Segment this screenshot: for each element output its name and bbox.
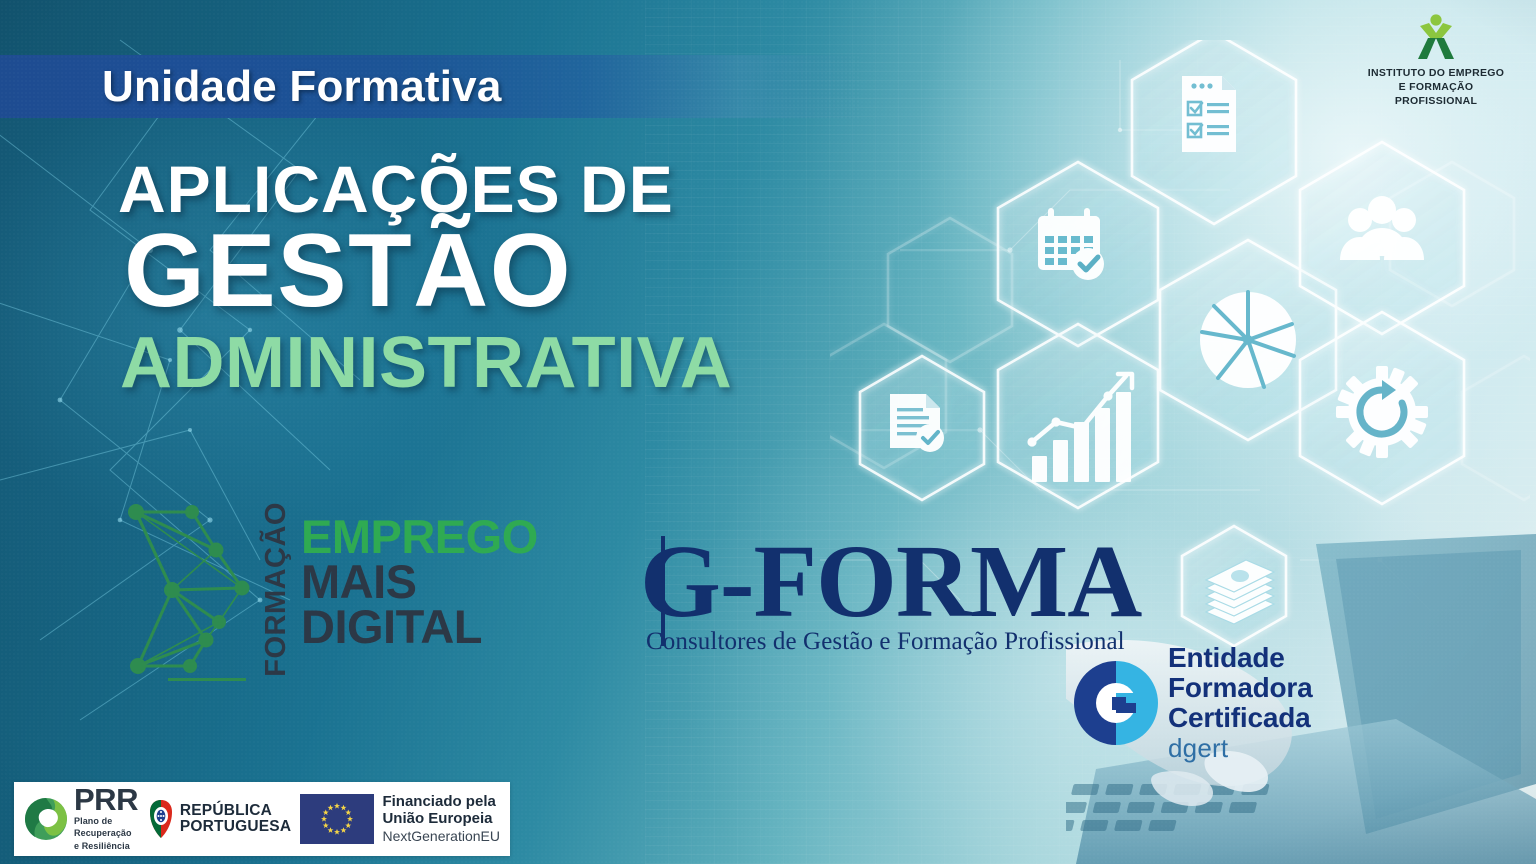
dgert-certification-badge: Entidade Formadora Certificada dgert — [1072, 643, 1312, 762]
dgert-line-1: Entidade — [1168, 643, 1312, 673]
emd-vertical-word: FORMAÇÃO — [262, 502, 291, 677]
gforma-accent-bar — [661, 536, 665, 646]
page-title: APLICAÇÕES DE GESTÃO ADMINISTRATIVA — [118, 156, 732, 399]
republica-portuguesa-logo: REPÚBLICA PORTUGUESA — [148, 799, 291, 839]
prr-sub-1: Plano de Recuperação — [74, 816, 139, 839]
dgert-d-mark-icon — [1072, 657, 1158, 749]
dgert-line-2: Formadora — [1168, 673, 1312, 703]
emprego-mais-digital-logo: FORMAÇÃO EMPREGO MAIS DIGITAL — [124, 500, 538, 686]
republica-text: REPÚBLICA PORTUGUESA — [180, 803, 291, 836]
network-nodes-icon — [124, 500, 256, 686]
republica-line-2: PORTUGUESA — [180, 819, 291, 835]
eu-flag-icon — [300, 794, 374, 844]
eu-funding-logo: Financiado pela União Europeia NextGener… — [300, 793, 500, 845]
eu-text: Financiado pela União Europeia NextGener… — [382, 793, 500, 845]
ribbon-label: Unidade Formativa — [102, 62, 502, 112]
portugal-shield-icon — [148, 799, 174, 839]
eu-line-2: União Europeia — [382, 810, 500, 827]
eu-line-3: NextGenerationEU — [382, 828, 500, 845]
iefp-logo: INSTITUTO DO EMPREGO E FORMAÇÃO PROFISSI… — [1358, 14, 1514, 109]
prr-globe-icon — [24, 797, 68, 841]
prr-text: PRR Plano de Recuperação e Resiliência — [74, 786, 139, 852]
eu-line-1: Financiado pela — [382, 793, 500, 810]
dgert-label: Entidade Formadora Certificada dgert — [1168, 643, 1312, 762]
gforma-wordmark: G-FORMA — [640, 530, 1141, 634]
dgert-line-4: dgert — [1168, 734, 1312, 763]
funding-logos-bar: PRR Plano de Recuperação e Resiliência R… — [14, 782, 510, 856]
prr-acronym: PRR — [74, 786, 139, 815]
dgert-line-3: Certificada — [1168, 703, 1312, 733]
prr-sub-2: e Resiliência — [74, 841, 139, 852]
iefp-label-line-2: E FORMAÇÃO PROFISSIONAL — [1358, 80, 1514, 108]
promotional-banner: Unidade Formativa APLICAÇÕES DE GESTÃO A… — [0, 0, 1536, 864]
iefp-figure-icon — [1410, 14, 1462, 60]
headline-line-2: GESTÃO — [124, 219, 732, 323]
emd-wordmark: EMPREGO MAIS DIGITAL — [301, 514, 538, 649]
iefp-label-line-1: INSTITUTO DO EMPREGO — [1358, 66, 1514, 80]
gforma-wordmark-text: G-FORMA — [640, 524, 1141, 639]
emd-word-mais: MAIS — [301, 559, 538, 604]
emd-word-emprego: EMPREGO — [301, 514, 538, 559]
unidade-formativa-ribbon: Unidade Formativa — [0, 55, 860, 118]
gforma-logo: G-FORMA Consultores de Gestão e Formação… — [640, 530, 1141, 656]
prr-logo: PRR Plano de Recuperação e Resiliência — [24, 786, 139, 852]
emd-word-digital: DIGITAL — [301, 604, 538, 649]
republica-line-1: REPÚBLICA — [180, 803, 291, 819]
headline-line-3: ADMINISTRATIVA — [120, 327, 732, 399]
